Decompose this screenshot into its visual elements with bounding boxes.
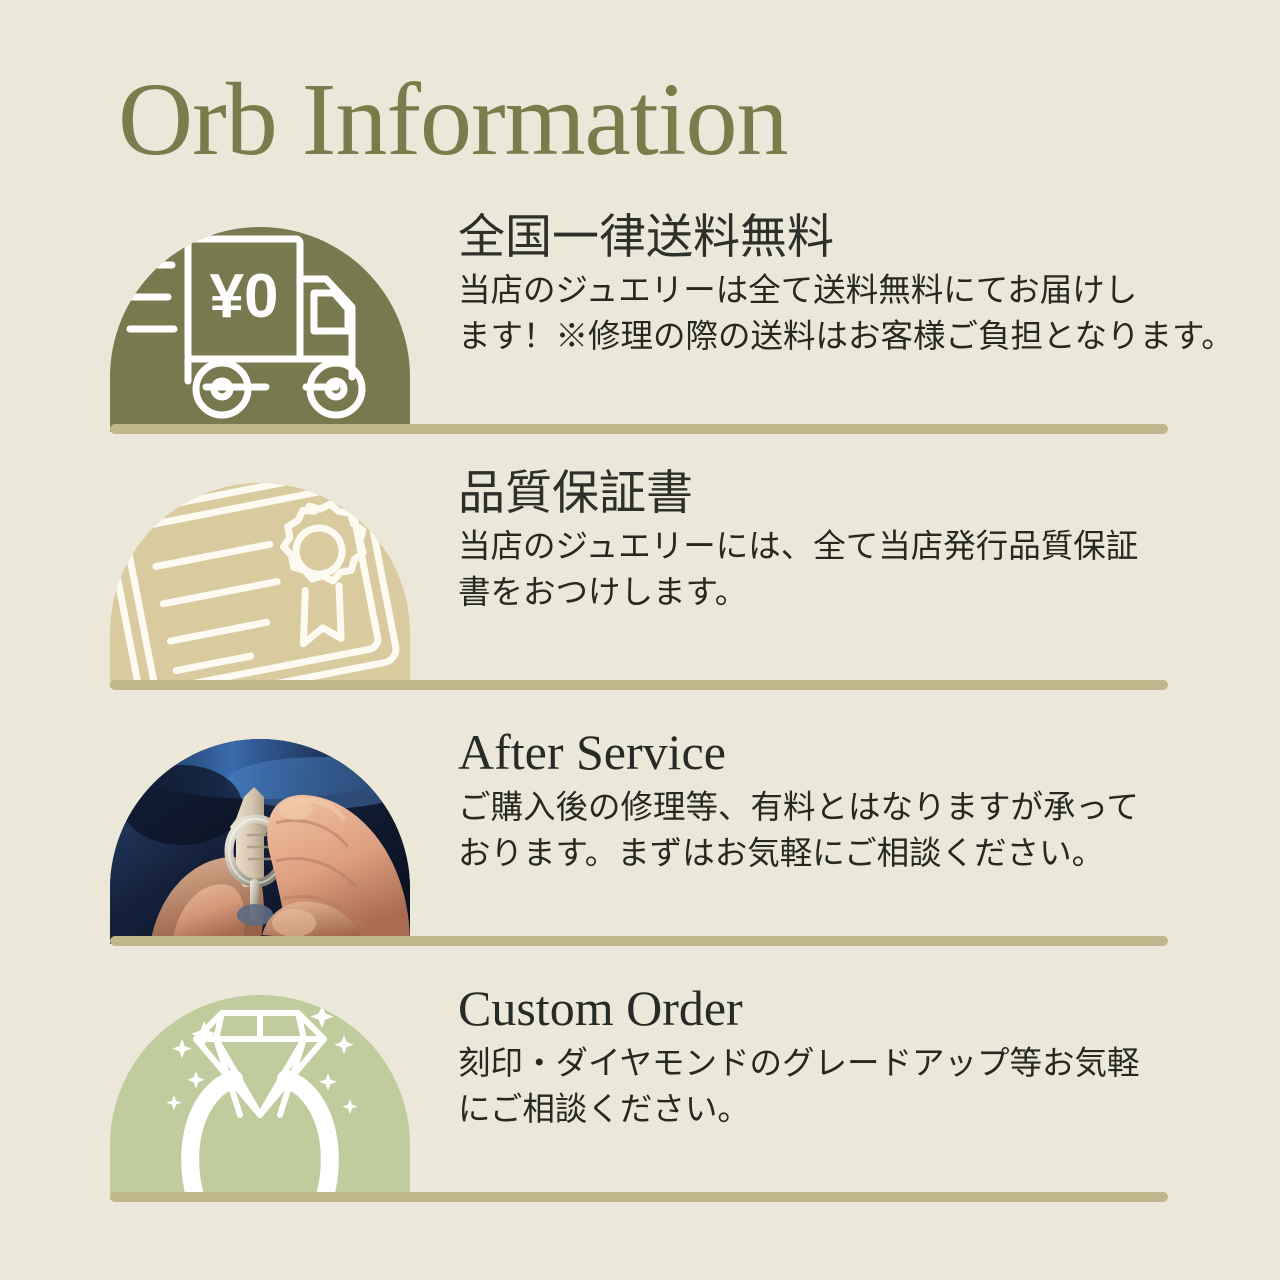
custom-order-body-line-1: 刻印・ダイヤモンドのグレードアップ等お気軽 xyxy=(458,1040,1198,1086)
shipping-truck-icon: ¥0 xyxy=(110,227,410,432)
certificate-body: 当店のジュエリーには、全て当店発行品質保証 書をおつけします。 xyxy=(458,523,1198,615)
divider-3 xyxy=(110,936,1168,946)
shipping-body-line-2: ます！※修理の際の送料はお客様ご負担となります。 xyxy=(458,313,1198,359)
shipping-heading: 全国一律送料無料 xyxy=(458,212,1198,263)
after-service-body-line-2: おります。まずはお気軽にご相談ください。 xyxy=(458,830,1198,876)
custom-order-arch xyxy=(110,995,410,1200)
orb-information-page: Orb Information xyxy=(0,0,1280,1280)
section-certificate: 品質保証書 当店のジュエリーには、全て当店発行品質保証 書をおつけします。 xyxy=(0,468,1280,688)
shipping-body: 当店のジュエリーは全て送料無料にてお届けし ます！※修理の際の送料はお客様ご負担… xyxy=(458,267,1198,359)
section-after-service: After Service ご購入後の修理等、有料とはなりますが承って おります… xyxy=(0,724,1280,944)
page-title: Orb Information xyxy=(118,68,787,172)
divider-2 xyxy=(110,680,1168,690)
certificate-icon xyxy=(110,483,410,688)
custom-order-body-line-2: にご相談ください。 xyxy=(458,1086,1198,1132)
certificate-heading: 品質保証書 xyxy=(458,468,1198,519)
custom-order-text: Custom Order 刻印・ダイヤモンドのグレードアップ等お気軽 にご相談く… xyxy=(458,980,1198,1132)
certificate-body-line-1: 当店のジュエリーには、全て当店発行品質保証 xyxy=(458,523,1198,569)
shipping-arch: ¥0 xyxy=(110,227,410,432)
jeweler-hand-photo-art xyxy=(110,739,410,944)
after-service-body: ご購入後の修理等、有料とはなりますが承って おります。まずはお気軽にご相談くださ… xyxy=(458,784,1198,876)
certificate-body-line-2: 書をおつけします。 xyxy=(458,569,1198,615)
custom-order-body: 刻印・ダイヤモンドのグレードアップ等お気軽 にご相談ください。 xyxy=(458,1040,1198,1132)
shipping-price-label: ¥0 xyxy=(210,262,279,331)
section-shipping: ¥0 全国一律送料無料 当店のジュエリーは全て送料無料にてお届けし ます！※修理… xyxy=(0,212,1280,432)
after-service-body-line-1: ご購入後の修理等、有料とはなりますが承って xyxy=(458,784,1198,830)
jeweler-hand-photo xyxy=(110,739,410,944)
certificate-text: 品質保証書 当店のジュエリーには、全て当店発行品質保証 書をおつけします。 xyxy=(458,468,1198,615)
shipping-text: 全国一律送料無料 当店のジュエリーは全て送料無料にてお届けし ます！※修理の際の… xyxy=(458,212,1198,359)
shipping-body-line-1: 当店のジュエリーは全て送料無料にてお届けし xyxy=(458,267,1198,313)
section-custom-order: Custom Order 刻印・ダイヤモンドのグレードアップ等お気軽 にご相談く… xyxy=(0,980,1280,1200)
diamond-ring-icon xyxy=(110,995,410,1200)
certificate-arch xyxy=(110,483,410,688)
after-service-text: After Service ご購入後の修理等、有料とはなりますが承って おります… xyxy=(458,724,1198,876)
divider-1 xyxy=(110,424,1168,434)
divider-4 xyxy=(110,1192,1168,1202)
after-service-heading: After Service xyxy=(458,724,1198,780)
custom-order-heading: Custom Order xyxy=(458,980,1198,1036)
